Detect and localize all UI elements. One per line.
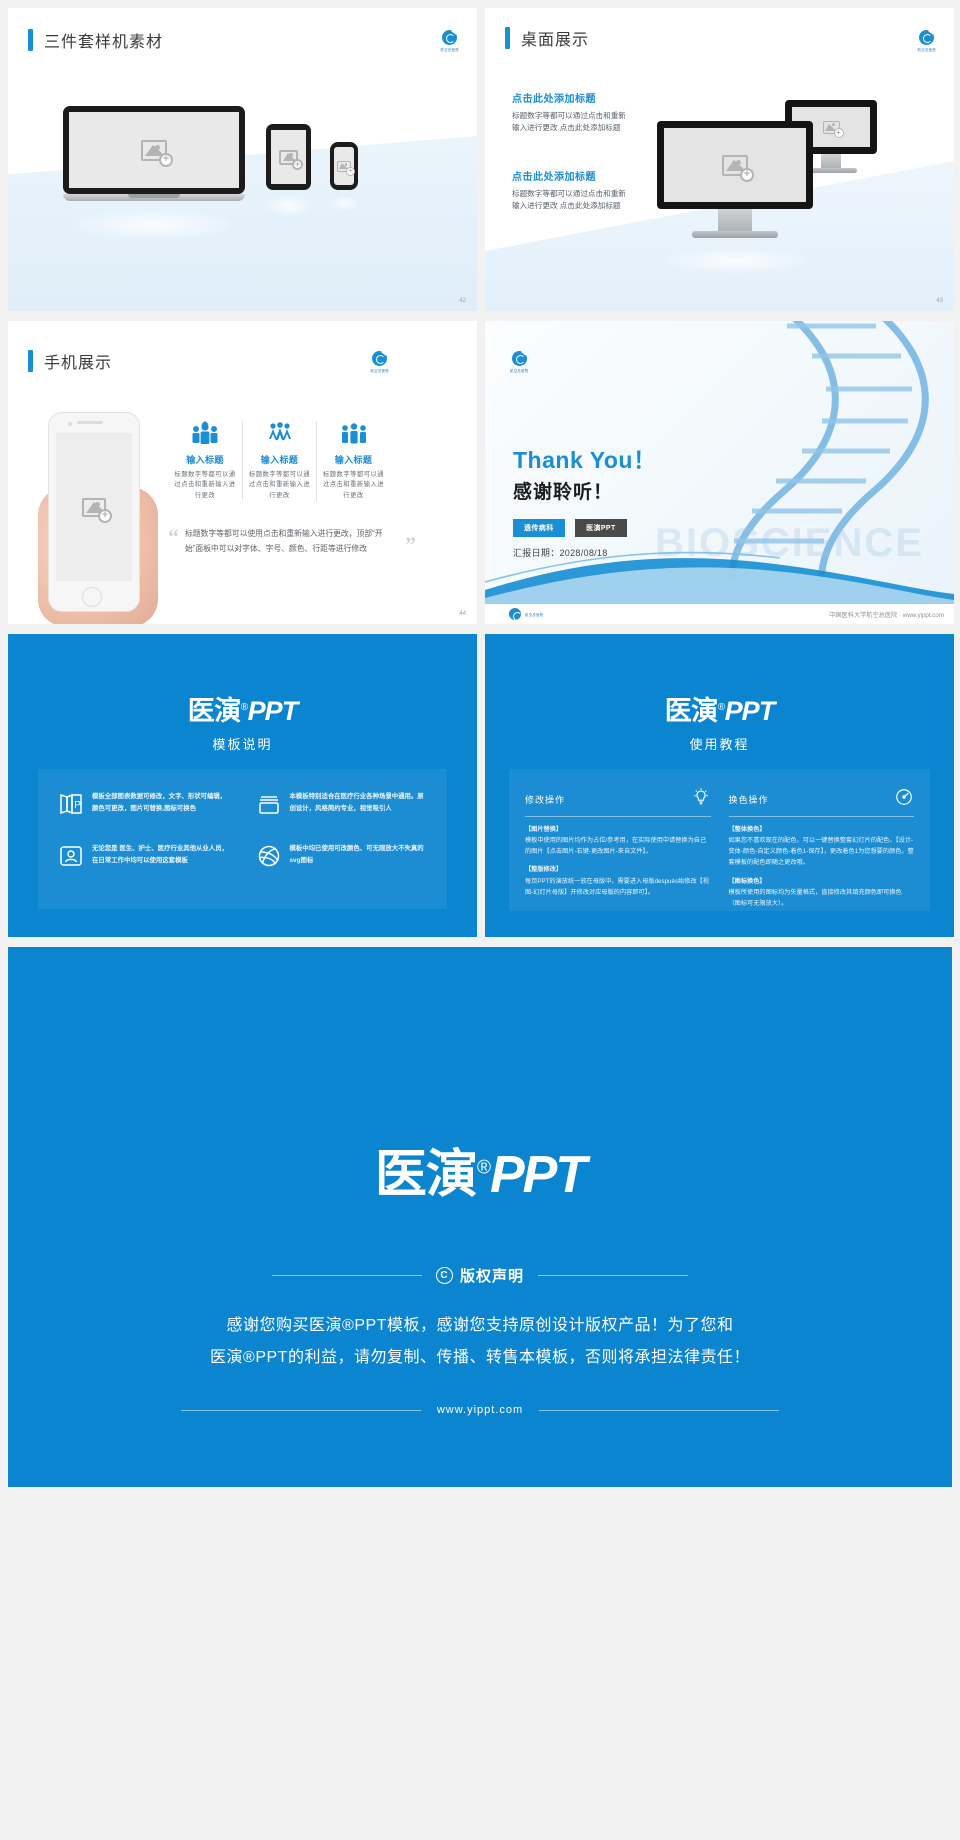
column-body: 标题数字等都可以通过点击和重新输入进行更改 <box>322 470 385 501</box>
org-logo: 航空总医院 <box>510 351 528 373</box>
column-body: 标题数字等都可以通过点击和重新输入进行更改 <box>248 470 311 501</box>
brand-cn: 医演 <box>188 696 241 726</box>
tutorial-column[interactable]: 修改操作 【图片替换】 模板中使用的图片均作为占位/参考用，在实际使用中请替换为… <box>525 787 711 893</box>
logo-subtitle: 航空总医院 <box>371 368 389 373</box>
page-number: 44 <box>459 611 466 617</box>
tag-department[interactable]: 遗传病科 <box>513 519 565 537</box>
logo-subtitle: 航空总医院 <box>525 612 543 617</box>
block-heading: 点击此处添加标题 <box>512 90 632 105</box>
feature-item[interactable]: 无论您是 医生、护士、医疗行业其他从业人员，在日常工作中均可以使用这套模板 <box>58 843 230 869</box>
slide-template-notes[interactable]: 医演®PPT 模板说明 P 模板全部图表数据可修改，文字、形状可编辑，颜色可更改… <box>8 634 477 937</box>
check-circle-icon <box>442 30 457 45</box>
laptop-reflection <box>68 208 240 242</box>
tutorial-item-text: 模板所使用的图标均为矢量格式，直接修改其填充颜色即可换色（图标可无限放大）。 <box>729 889 902 907</box>
brand-ppt: PPT <box>490 1146 585 1204</box>
tutorial-item: 【图片替换】 模板中使用的图片均作为占位/参考用，在实际使用中请替换为自己的图片… <box>525 824 711 857</box>
page-title: 三件套样机素材 <box>44 28 163 52</box>
laptop-mockup: + <box>63 106 245 201</box>
people-group-icon <box>173 421 237 447</box>
phone-mockup: + <box>330 142 358 190</box>
tablet-reflection <box>266 195 312 217</box>
footer-credit: 中国医科大学航空总医院 · www.yippt.com <box>829 610 944 619</box>
brand-cn: 医演 <box>665 696 718 726</box>
check-circle-icon <box>512 351 527 366</box>
add-image-icon: + <box>82 498 106 517</box>
column-title: 输入标题 <box>248 453 311 466</box>
quote-close-icon: ” <box>405 534 416 556</box>
tutorial-column-head: 修改操作 <box>525 787 711 817</box>
divider-line-left <box>272 1275 422 1276</box>
slide-title-bar: 手机展示 <box>28 349 112 373</box>
palette-icon <box>894 787 914 812</box>
slide-title-bar: 三件套样机素材 <box>28 28 163 52</box>
slide-tutorial[interactable]: 医演®PPT 使用教程 修改操作 【图片替换】 <box>485 634 954 937</box>
features-panel: P 模板全部图表数据可修改，文字、形状可编辑，颜色可更改，图片可替换,图标可换色… <box>38 769 447 909</box>
quote-block: “ 标题数字等都可以使用点击和重新输入进行更改，顶部“开始”面板中可以对字体、字… <box>168 526 416 556</box>
tutorial-head-label: 换色操作 <box>729 793 769 806</box>
brand-cn: 医演 <box>375 1146 477 1204</box>
tutorial-item-label: 【整版修改】 <box>525 866 562 873</box>
brand-ppt: PPT <box>248 696 298 726</box>
feature-item[interactable]: 本模板特别适合在医疗行业各种场景中通用。原创设计，风格简约专业，视觉吸引人 <box>256 791 428 817</box>
org-logo: 航空总医院 <box>441 30 459 52</box>
tutorial-item: 【图标换色】 模板所使用的图标均为矢量格式，直接修改其填充颜色即可换色（图标可无… <box>729 876 915 909</box>
url-line-right <box>539 1410 779 1411</box>
feature-text: 无论您是 医生、护士、医疗行业其他从业人员，在日常工作中均可以使用这套模板 <box>92 843 230 869</box>
feature-item[interactable]: P 模板全部图表数据可修改，文字、形状可编辑，颜色可更改，图片可替换,图标可换色 <box>58 791 230 817</box>
column-title: 输入标题 <box>173 453 237 466</box>
tutorial-item: 【整体换色】 如果您不喜欢现在的配色，可以一键替换整套幻灯片的配色。【设计-变体… <box>729 824 915 869</box>
copyright-body: 感谢您购买医演®PPT模板，感谢您支持原创设计版权产品！为了您和 医演®PPT的… <box>8 1310 952 1374</box>
copyright-divider: C 版权声明 <box>8 1265 952 1286</box>
user-badge-icon <box>58 843 84 869</box>
check-circle-icon <box>372 351 387 366</box>
title-accent-bar <box>505 27 510 49</box>
copyright-icon: C <box>436 1267 453 1284</box>
text-block-2: 点击此处添加标题 标题数字等都可以通过点击和重新输入进行更改 点击此处添加标题 <box>512 168 632 213</box>
page-number: 42 <box>459 298 466 304</box>
feature-text: 模板全部图表数据可修改，文字、形状可编辑，颜色可更改，图片可替换,图标可换色 <box>92 791 230 817</box>
quote-open-icon: “ <box>168 526 179 556</box>
monitor-large-mockup: + <box>657 121 813 238</box>
quote-text: 标题数字等都可以使用点击和重新输入进行更改，顶部“开始”面板中可以对字体、字号、… <box>185 526 399 556</box>
logo-subtitle: 航空总医院 <box>918 47 936 52</box>
org-logo: 航空总医院 <box>371 351 389 373</box>
brand-logo-large: 医演®PPT <box>8 1132 952 1207</box>
footer-logo: 航空总医院 <box>509 608 543 620</box>
block-body: 标题数字等都可以通过点击和重新输入进行更改 点击此处添加标题 <box>512 188 632 213</box>
brand-logo: 医演®PPT <box>485 689 954 728</box>
people-team-icon <box>322 421 385 447</box>
feature-columns: 输入标题 标题数字等都可以通过点击和重新输入进行更改 输入标题 标题数字等都可以… <box>168 421 390 501</box>
add-image-icon: + <box>722 155 748 176</box>
thank-you-cn: 感谢聆听！ <box>513 477 656 504</box>
column-body: 标题数字等都可以通过点击和重新输入进行更改 <box>173 470 237 501</box>
feature-column[interactable]: 输入标题 标题数字等都可以通过点击和重新输入进行更改 <box>316 421 390 501</box>
text-block-1: 点击此处添加标题 标题数字等都可以通过点击和重新输入进行更改 点击此处添加标题 <box>512 90 632 135</box>
people-walking-icon <box>248 421 311 447</box>
phone-reflection <box>330 195 359 211</box>
copyright-statement-label: C 版权声明 <box>436 1265 524 1286</box>
url-line-left <box>181 1410 421 1411</box>
statement-text: 版权声明 <box>460 1265 524 1286</box>
divider-line-right <box>538 1275 688 1276</box>
brand-ppt: PPT <box>725 696 775 726</box>
slide-copyright[interactable]: 医演®PPT C 版权声明 感谢您购买医演®PPT模板，感谢您支持原创设计版权产… <box>8 947 952 1487</box>
tutorial-item-label: 【图片替换】 <box>525 826 562 833</box>
check-circle-icon <box>509 608 521 620</box>
brand-subtitle: 模板说明 <box>8 734 477 753</box>
org-logo: 航空总医院 <box>918 30 936 52</box>
column-title: 输入标题 <box>322 453 385 466</box>
site-url[interactable]: www.yippt.com <box>437 1404 523 1416</box>
feature-text: 本模板特别适合在医疗行业各种场景中通用。原创设计，风格简约专业，视觉吸引人 <box>290 791 428 817</box>
svg-text:P: P <box>74 800 81 811</box>
feature-item[interactable]: 模板中均已使用可改颜色、可无限放大不失真的svg图标 <box>256 843 428 869</box>
tablet-mockup: + <box>266 124 311 190</box>
layers-icon <box>256 791 282 817</box>
page-title: 桌面展示 <box>521 26 589 50</box>
block-body: 标题数字等都可以通过点击和重新输入进行更改 点击此处添加标题 <box>512 110 632 135</box>
tutorial-item-label: 【整体换色】 <box>729 826 766 833</box>
page-number: 43 <box>936 298 943 304</box>
slide-three-device-mockup[interactable]: 三件套样机素材 航空总医院 + <box>8 8 477 311</box>
feature-column[interactable]: 输入标题 标题数字等都可以通过点击和重新输入进行更改 <box>168 421 242 501</box>
brand-logo: 医演®PPT <box>8 689 477 728</box>
slide-desktop-showcase[interactable]: 桌面展示 航空总医院 点击此处添加标题 标题数字等都可以通过点击和重新输入进行更… <box>485 8 954 311</box>
monitor-reflection <box>661 248 811 274</box>
tutorial-column-head: 换色操作 <box>729 787 915 817</box>
tutorial-item-text: 模板中使用的图片均作为占位/参考用，在实际使用中请替换为自己的图片【点击图片-右… <box>525 837 706 855</box>
brand-subtitle: 使用教程 <box>485 734 954 753</box>
copyright-line-1: 感谢您购买医演®PPT模板，感谢您支持原创设计版权产品！为了您和 <box>8 1310 952 1342</box>
add-image-icon: + <box>823 121 840 134</box>
title-accent-bar <box>28 350 33 372</box>
brand-registered: ® <box>241 702 248 713</box>
brand-registered: ® <box>477 1158 490 1179</box>
book-pages-icon: P <box>58 791 84 817</box>
slide-phone-showcase[interactable]: 手机展示 航空总医院 + <box>8 321 477 624</box>
add-image-icon: + <box>141 140 167 161</box>
site-url-row: www.yippt.com <box>8 1404 952 1416</box>
tutorial-panel: 修改操作 【图片替换】 模板中使用的图片均作为占位/参考用，在实际使用中请替换为… <box>509 769 930 911</box>
check-circle-icon <box>919 30 934 45</box>
slide-title-bar: 桌面展示 <box>505 26 589 50</box>
tutorial-item-text: 如果您不喜欢现在的配色，可以一键替换整套幻灯片的配色。【设计-变体-颜色-自定义… <box>729 837 914 866</box>
feature-column[interactable]: 输入标题 标题数字等都可以通过点击和重新输入进行更改 <box>242 421 316 501</box>
slide-thank-you[interactable]: BIOSCIENCE 航空总医院 Thank You！ 感谢聆听！ 遗传病科 医… <box>485 321 954 624</box>
brand-registered: ® <box>718 702 725 713</box>
block-heading: 点击此处添加标题 <box>512 168 632 183</box>
tutorial-item-text: 每页PPT的演放统一放在母版中，需要进入母版después始修改【视图-幻灯片母… <box>525 878 709 896</box>
tutorial-column[interactable]: 换色操作 【整体换色】 如果您不喜欢现在的配色，可以一键替换整套幻灯片的配色。【… <box>729 787 915 893</box>
tutorial-item-label: 【图标换色】 <box>729 878 766 885</box>
tag-brand[interactable]: 医演PPT <box>575 519 627 537</box>
add-image-icon: + <box>337 161 351 172</box>
logo-subtitle: 航空总医院 <box>441 47 459 52</box>
page-title: 手机展示 <box>44 349 112 373</box>
tutorial-item: 【整版修改】 每页PPT的演放统一放在母版中，需要进入母版después始修改【… <box>525 864 711 897</box>
thank-you-en: Thank You！ <box>513 441 656 475</box>
wave-decoration <box>485 542 954 604</box>
hand-holding-phone-photo: + <box>30 409 160 624</box>
dribbble-icon <box>256 843 282 869</box>
title-accent-bar <box>28 29 33 51</box>
copyright-line-2: 医演®PPT的利益，请勿复制、传播、转售本模板，否则将承担法律责任！ <box>8 1342 952 1374</box>
add-image-icon: + <box>279 150 298 165</box>
lightbulb-icon <box>691 787 711 812</box>
feature-text: 模板中均已使用可改颜色、可无限放大不失真的svg图标 <box>290 843 428 869</box>
logo-subtitle: 航空总医院 <box>510 368 528 373</box>
tutorial-head-label: 修改操作 <box>525 793 565 806</box>
tag-row: 遗传病科 医演PPT <box>513 517 656 537</box>
